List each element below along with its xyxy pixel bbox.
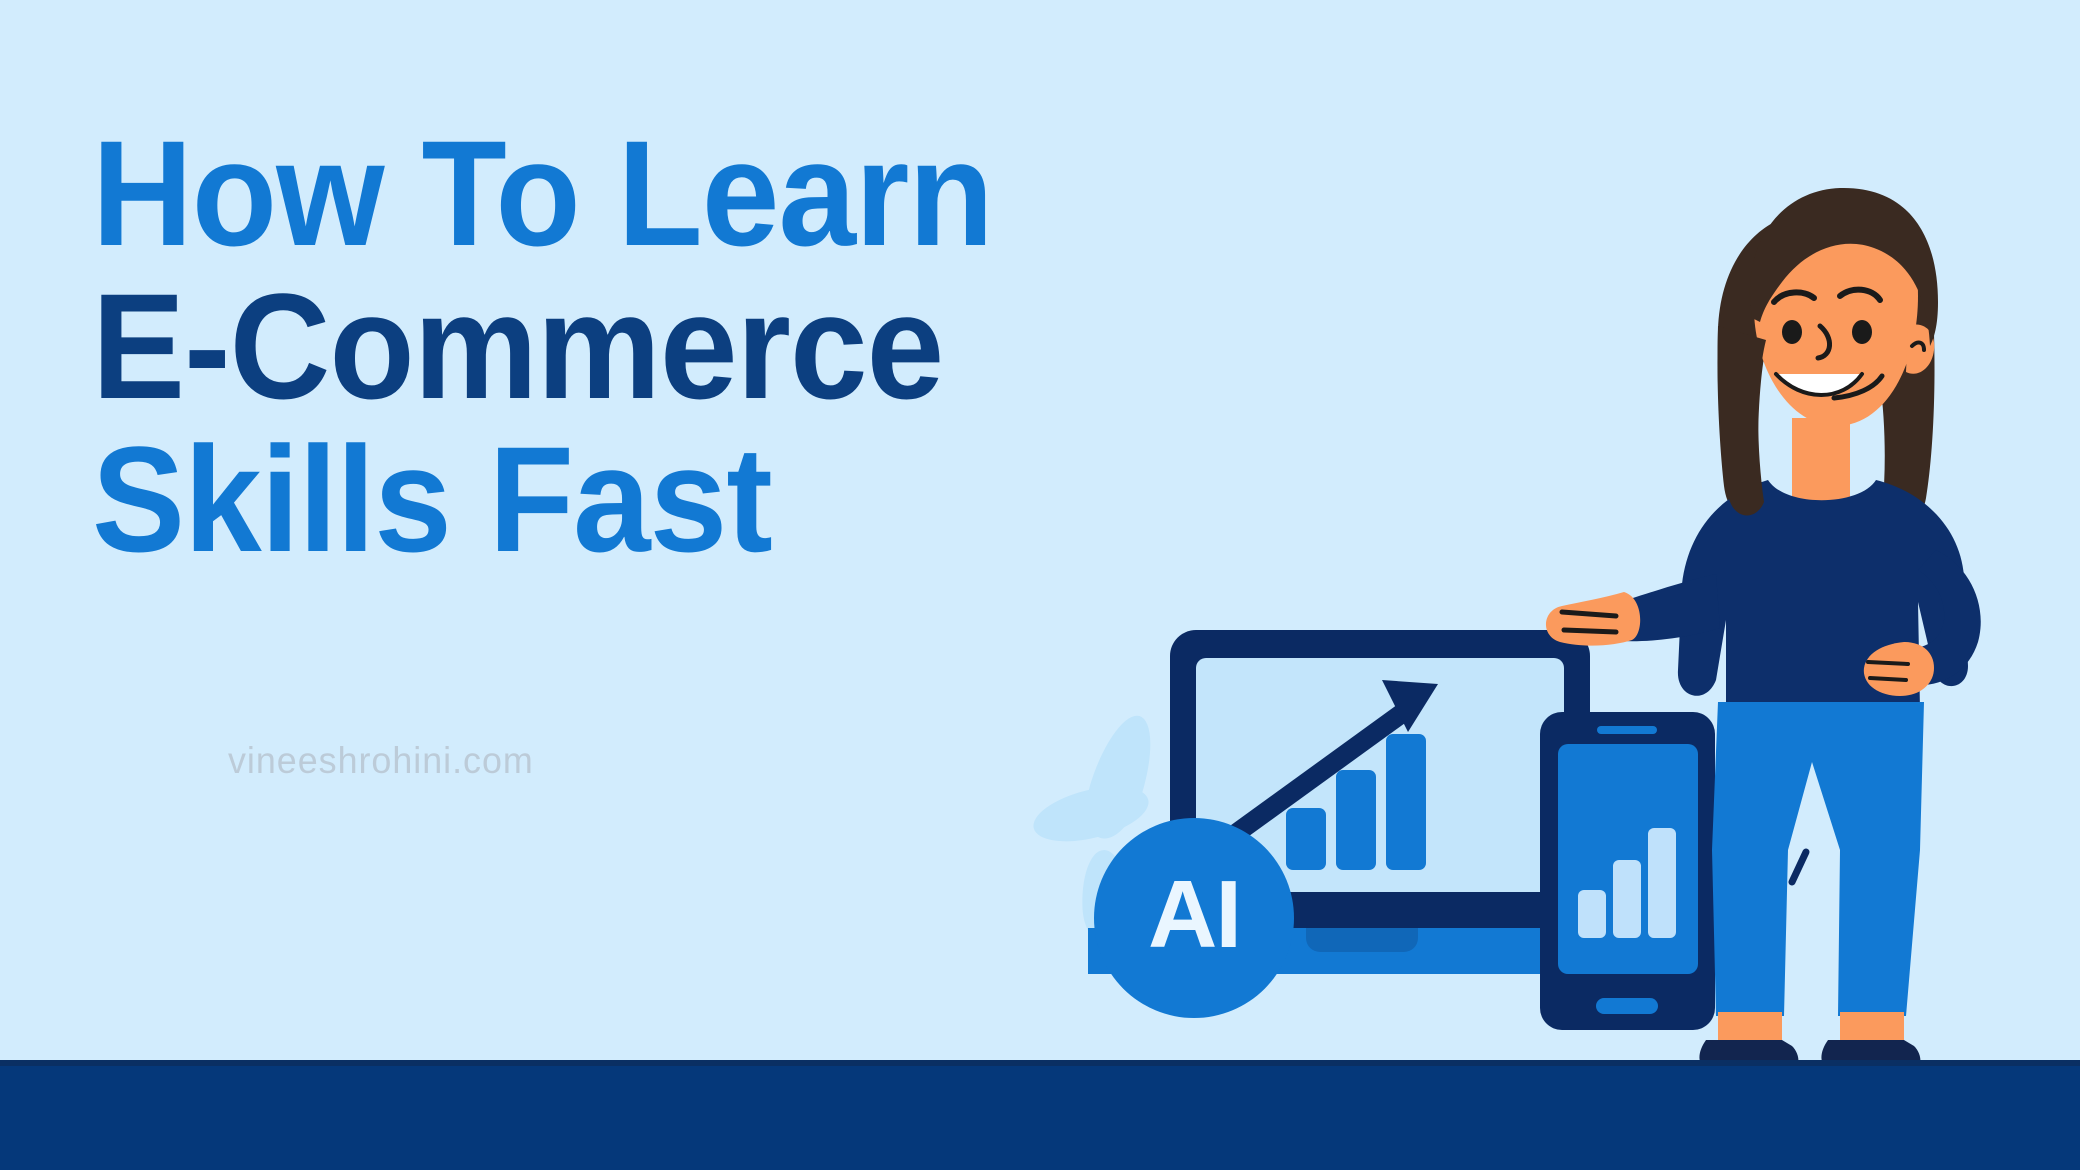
woman-illustration (1520, 150, 2080, 1080)
headline-line-3: Skills Fast (92, 426, 1134, 573)
laptop-bar-3 (1386, 734, 1426, 870)
laptop-bar-1 (1286, 808, 1326, 870)
bottom-bar-accent (0, 1060, 2080, 1066)
headline-line-2: E-Commerce (92, 273, 1134, 420)
headline-block: How To Learn E-Commerce Skills Fast (92, 120, 1212, 573)
ai-badge-label: AI (1148, 867, 1240, 963)
ai-badge: AI (1094, 818, 1294, 1018)
woman-figure-icon (1520, 150, 2080, 1080)
poster-canvas: How To Learn E-Commerce Skills Fast vine… (0, 0, 2080, 1170)
bottom-bar (0, 1062, 2080, 1170)
headline-line-1: How To Learn (92, 120, 1134, 267)
site-watermark: vineeshrohini.com (228, 740, 534, 782)
laptop-trackpad-notch (1306, 928, 1418, 952)
laptop-bar-2 (1336, 770, 1376, 870)
